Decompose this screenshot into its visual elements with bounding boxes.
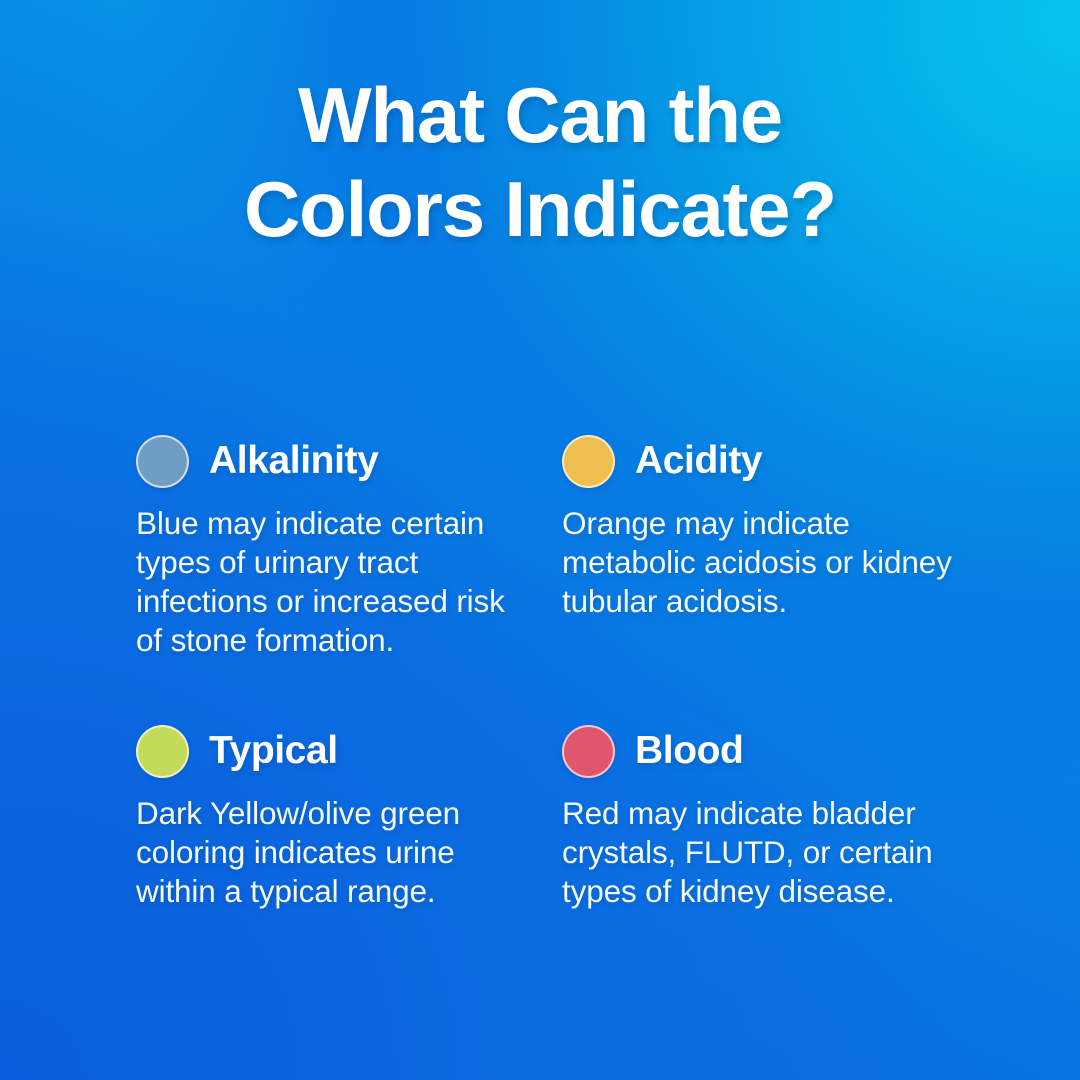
- orange-swatch-icon: [562, 435, 615, 488]
- green-swatch-icon: [136, 725, 189, 778]
- legend-description-acidity: Orange may indicate metabolic acidosis o…: [562, 504, 954, 621]
- legend-item-blood: Blood Red may indicate bladder crystals,…: [562, 722, 966, 911]
- legend-item-acidity: Acidity Orange may indicate metabolic ac…: [562, 432, 966, 660]
- color-legend-grid: Alkalinity Blue may indicate certain typ…: [136, 432, 966, 911]
- legend-header-typical: Typical: [136, 722, 562, 780]
- infographic-card: What Can the Colors Indicate? Alkalinity…: [0, 0, 1080, 1080]
- legend-description-alkalinity: Blue may indicate certain types of urina…: [136, 504, 516, 660]
- legend-label-blood: Blood: [635, 729, 743, 773]
- blue-swatch-icon: [136, 435, 189, 488]
- legend-header-alkalinity: Alkalinity: [136, 432, 562, 490]
- red-swatch-icon: [562, 725, 615, 778]
- legend-item-typical: Typical Dark Yellow/olive green coloring…: [136, 722, 562, 911]
- legend-header-acidity: Acidity: [562, 432, 966, 490]
- legend-label-typical: Typical: [209, 729, 338, 773]
- legend-description-blood: Red may indicate bladder crystals, FLUTD…: [562, 794, 954, 911]
- title-line-1: What Can the: [0, 68, 1080, 162]
- title-line-2: Colors Indicate?: [0, 162, 1080, 256]
- legend-label-alkalinity: Alkalinity: [209, 439, 378, 483]
- legend-header-blood: Blood: [562, 722, 966, 780]
- legend-item-alkalinity: Alkalinity Blue may indicate certain typ…: [136, 432, 562, 660]
- legend-description-typical: Dark Yellow/olive green coloring indicat…: [136, 794, 516, 911]
- page-title: What Can the Colors Indicate?: [0, 68, 1080, 256]
- legend-label-acidity: Acidity: [635, 439, 762, 483]
